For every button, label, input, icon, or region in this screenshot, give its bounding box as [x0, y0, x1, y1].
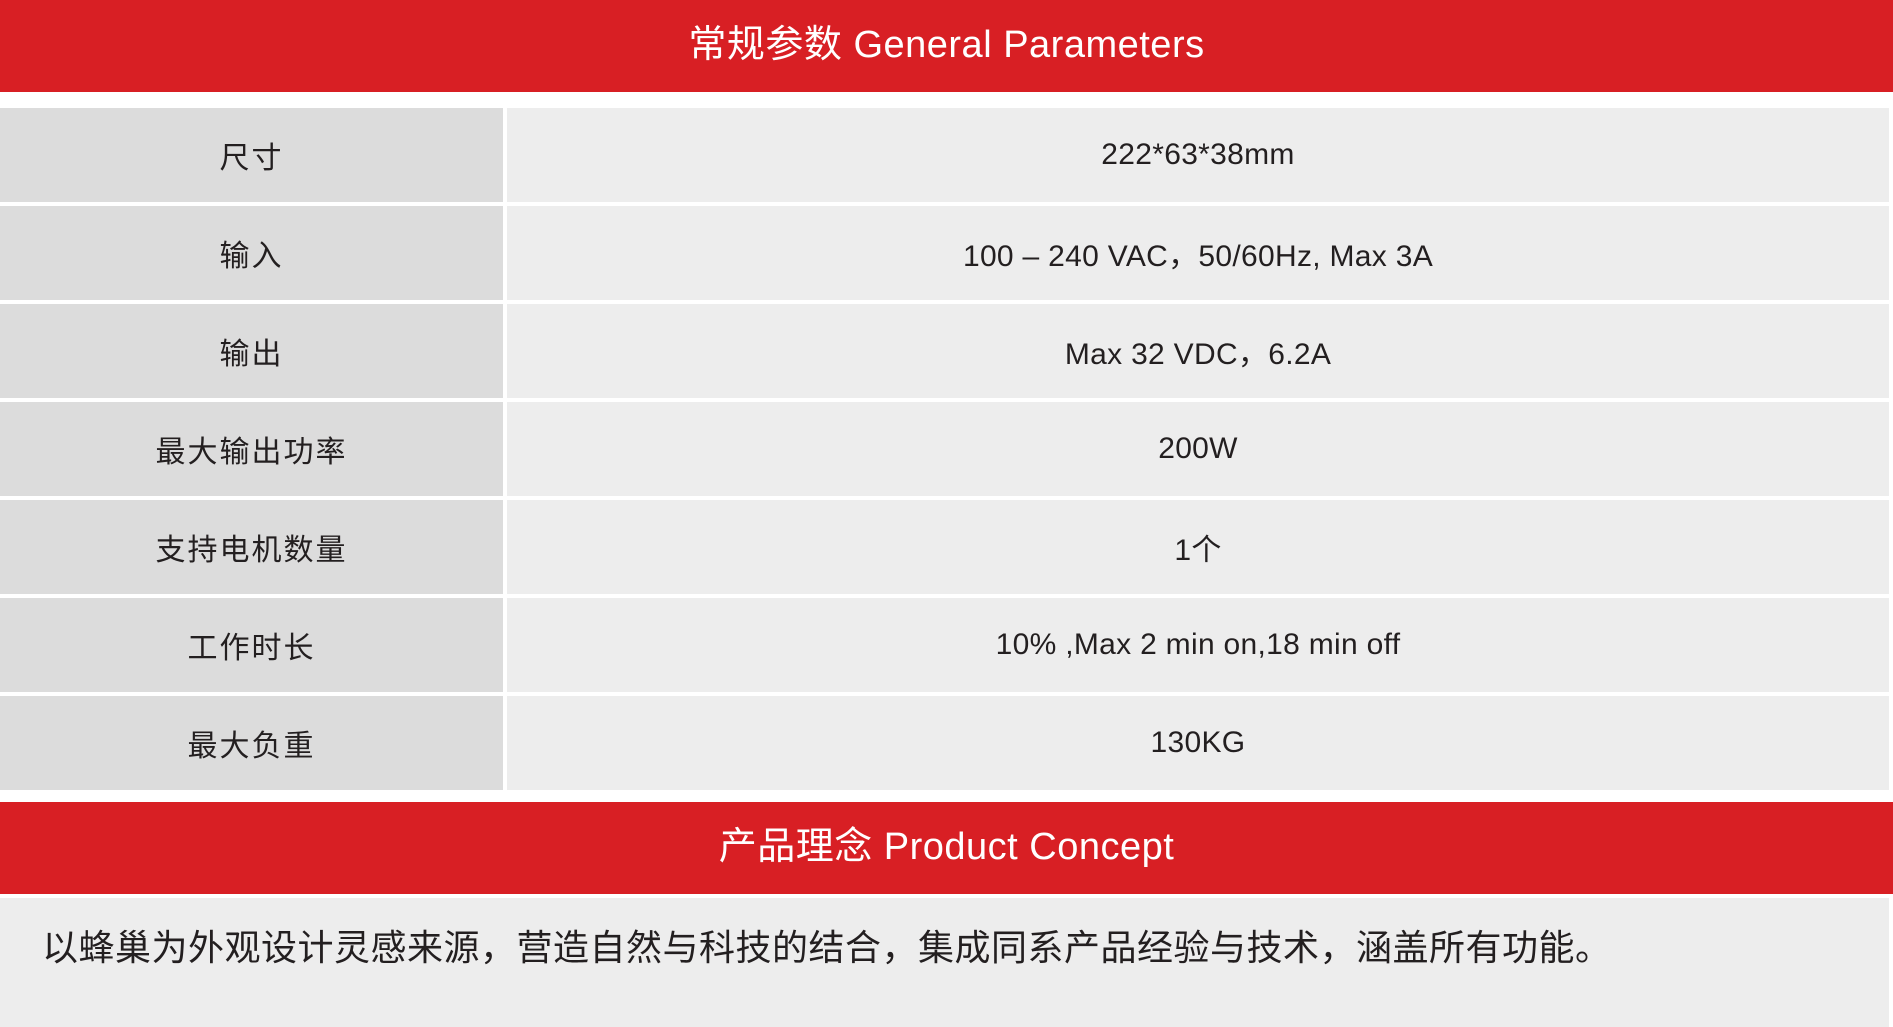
param-value-max-output-power: 200W	[507, 402, 1889, 496]
product-concept-body: 以蜂巢为外观设计灵感来源，营造自然与科技的结合，集成同系产品经验与技术，涵盖所有…	[0, 898, 1889, 1027]
param-value-duty-cycle: 10% ,Max 2 min on,18 min off	[507, 598, 1889, 692]
param-label-duty-cycle: 工作时长	[0, 598, 503, 692]
param-label-output: 输出	[0, 304, 503, 398]
param-label-max-load: 最大负重	[0, 696, 503, 790]
product-concept-banner-title: 产品理念 Product Concept	[719, 828, 1175, 866]
general-parameters-banner-title: 常规参数 General Parameters	[688, 26, 1204, 64]
param-label-max-output-power: 最大输出功率	[0, 402, 503, 496]
general-parameters-table: 尺寸 222*63*38mm 输入 100 – 240 VAC，50/60Hz,…	[0, 108, 1889, 790]
param-value-dimensions: 222*63*38mm	[507, 108, 1889, 202]
general-parameters-banner: 常规参数 General Parameters	[0, 0, 1893, 92]
param-value-output: Max 32 VDC，6.2A	[507, 304, 1889, 398]
product-concept-banner: 产品理念 Product Concept	[0, 802, 1893, 894]
param-label-dimensions: 尺寸	[0, 108, 503, 202]
spec-sheet-page: 常规参数 General Parameters 尺寸 222*63*38mm 输…	[0, 0, 1893, 1027]
param-value-max-load: 130KG	[507, 696, 1889, 790]
table-row: 最大负重 130KG	[0, 692, 1889, 790]
table-row: 输出 Max 32 VDC，6.2A	[0, 300, 1889, 398]
table-row: 输入 100 – 240 VAC，50/60Hz, Max 3A	[0, 202, 1889, 300]
table-row: 最大输出功率 200W	[0, 398, 1889, 496]
table-row: 尺寸 222*63*38mm	[0, 108, 1889, 202]
table-row: 支持电机数量 1个	[0, 496, 1889, 594]
param-value-supported-motor-count: 1个	[507, 500, 1889, 594]
table-row: 工作时长 10% ,Max 2 min on,18 min off	[0, 594, 1889, 692]
product-concept-paragraph: 以蜂巢为外观设计灵感来源，营造自然与科技的结合，集成同系产品经验与技术，涵盖所有…	[42, 920, 1853, 976]
param-value-input: 100 – 240 VAC，50/60Hz, Max 3A	[507, 206, 1889, 300]
param-label-supported-motor-count: 支持电机数量	[0, 500, 503, 594]
param-label-input: 输入	[0, 206, 503, 300]
